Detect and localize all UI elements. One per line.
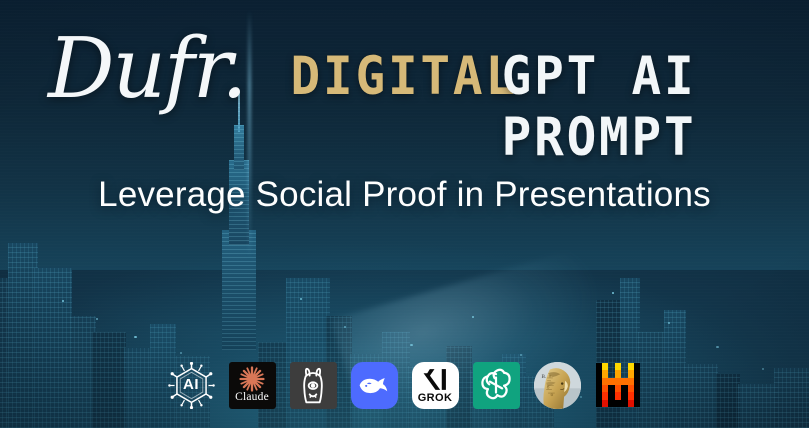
ai-hexagon-label: AI — [168, 376, 215, 393]
openai-logo[interactable] — [473, 362, 520, 409]
claude-label: Claude — [229, 391, 276, 403]
mistral-pixel-grid — [596, 363, 641, 407]
slide-headline: Leverage Social Proof in Presentations — [0, 175, 809, 215]
ai-hexagon-icon[interactable]: AI — [168, 362, 215, 409]
ai-logo-strip: AI Claude — [0, 354, 809, 416]
brand-script-wordmark: Dufr. — [48, 20, 246, 117]
deepseek-logo[interactable] — [351, 362, 398, 409]
robot-portrait-avatar[interactable]: B. — [534, 362, 581, 409]
llama-logo[interactable] — [290, 362, 337, 409]
presentation-slide: Dufr. DIGITAL GPT AI PROMPT Leverage Soc… — [0, 0, 809, 428]
mistral-logo[interactable] — [595, 362, 642, 409]
claude-logo[interactable]: Claude — [229, 362, 276, 409]
brand-tagline: GPT AI PROMPT — [492, 46, 768, 168]
grok-logo[interactable]: GROK — [412, 362, 459, 409]
grok-label: GROK — [412, 392, 459, 404]
brand-header: Dufr. DIGITAL GPT AI PROMPT — [48, 24, 768, 118]
brand-digital-text: DIGITAL — [291, 46, 518, 107]
robot-portrait-mark: B. — [541, 373, 546, 379]
brand-tagline-text: GPT AI PROMPT — [502, 46, 759, 168]
brand-digital-wordmark: DIGITAL — [282, 46, 526, 107]
